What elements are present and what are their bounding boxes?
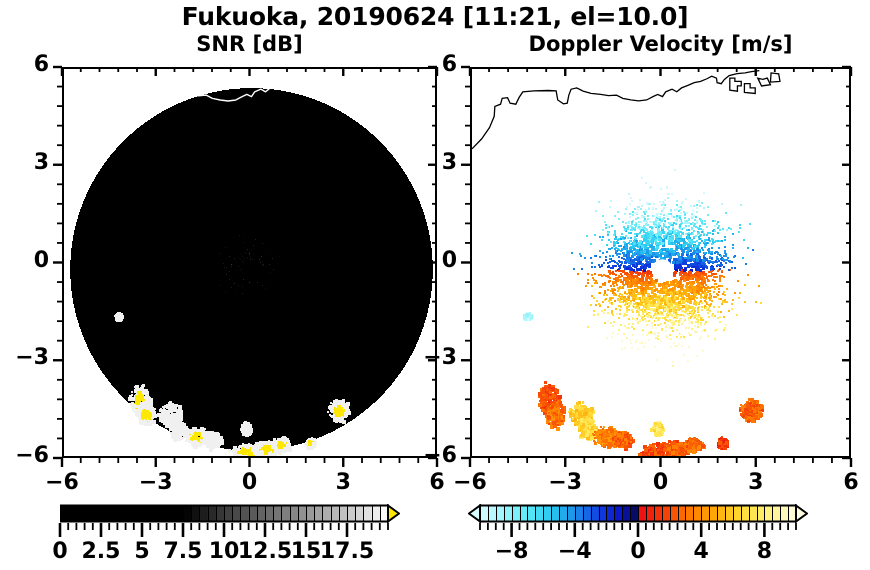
xtick-label-dop-0: −6 xyxy=(430,470,510,495)
cbar-tick-label-dop-4: 8 xyxy=(724,539,804,564)
plot-area-snr[interactable] xyxy=(62,67,437,458)
xtick-label-snr-1: −3 xyxy=(116,470,196,495)
ytick-label-dop-0: −6 xyxy=(405,443,457,468)
cbar-tick-label-snr-7: 17.5 xyxy=(307,539,387,564)
colorbar-doppler-gradient xyxy=(468,504,808,523)
xtick-label-dop-4: 6 xyxy=(811,470,870,495)
ytick-label-dop-2: 0 xyxy=(405,248,457,273)
ytick-label-snr-1: −3 xyxy=(0,345,49,370)
ytick-label-dop-4: 6 xyxy=(405,52,457,77)
xtick-label-snr-2: 0 xyxy=(210,470,290,495)
xtick-label-dop-3: 3 xyxy=(716,470,796,495)
colorbar-snr[interactable] xyxy=(60,504,400,523)
panel-title-snr: SNR [dB] xyxy=(62,32,437,56)
ytick-label-snr-0: −6 xyxy=(0,443,49,468)
ytick-label-snr-2: 0 xyxy=(0,248,49,273)
radar-ppi-snr-canvas xyxy=(64,69,437,458)
colorbar-snr-gradient xyxy=(60,504,400,523)
radar-ppi-doppler-canvas xyxy=(472,69,851,458)
figure-suptitle: Fukuoka, 20190624 [11:21, el=10.0] xyxy=(0,2,870,31)
ytick-label-snr-4: 6 xyxy=(0,52,49,77)
xtick-label-dop-2: 0 xyxy=(621,470,701,495)
ytick-label-dop-3: 3 xyxy=(405,150,457,175)
xtick-label-snr-0: −6 xyxy=(22,470,102,495)
xtick-label-snr-3: 3 xyxy=(303,470,383,495)
ytick-label-snr-3: 3 xyxy=(0,150,49,175)
xtick-label-dop-1: −3 xyxy=(525,470,605,495)
colorbar-doppler[interactable] xyxy=(468,504,808,523)
panel-title-doppler: Doppler Velocity [m/s] xyxy=(470,32,851,56)
plot-area-doppler[interactable] xyxy=(470,67,851,458)
ytick-label-dop-1: −3 xyxy=(405,345,457,370)
radar-figure: Fukuoka, 20190624 [11:21, el=10.0] SNR [… xyxy=(0,0,870,570)
